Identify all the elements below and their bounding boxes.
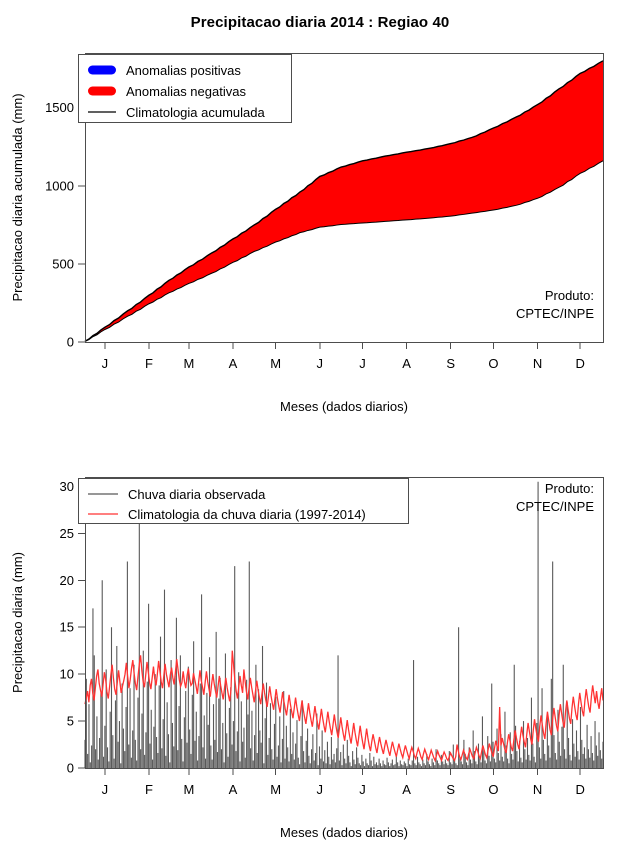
y-tick-label: 1000 (45, 178, 74, 193)
x-tick-label: A (402, 356, 411, 371)
x-tick-label: D (576, 356, 585, 371)
y-tick-label: 500 (52, 256, 74, 271)
y-tick-label: 0 (67, 335, 74, 350)
legend-swatch-1 (88, 87, 116, 96)
y-tick-label: 5 (67, 714, 74, 729)
legend-label-1: Anomalias negativas (126, 84, 246, 99)
daily-precipitation-panel: 051015202530JFMAMJJASONDMeses (dados dia… (0, 430, 640, 850)
y-tick-label: 25 (60, 526, 74, 541)
y-tick-label: 0 (67, 761, 74, 776)
y-tick-label: 15 (60, 620, 74, 635)
x-tick-label: M (183, 356, 194, 371)
page-title: Precipitacao diaria 2014 : Regiao 40 (0, 14, 640, 31)
legend-label-2: Climatologia acumulada (126, 105, 266, 120)
x-tick-label: A (229, 356, 238, 371)
x-tick-label: J (359, 782, 366, 797)
x-tick-label: J (102, 782, 109, 797)
accumulated-chart-svg: 050010001500JFMAMJJASONDMeses (dados dia… (0, 0, 640, 430)
x-axis-title: Meses (dados diarios) (280, 399, 408, 414)
x-tick-label: N (533, 356, 542, 371)
x-tick-label: D (576, 782, 585, 797)
screenshot-root: Precipitacao diaria 2014 : Regiao 40 050… (0, 0, 640, 850)
y-tick-label: 10 (60, 667, 74, 682)
x-tick-label: O (488, 356, 498, 371)
x-tick-label: A (229, 782, 238, 797)
x-tick-label: M (270, 782, 281, 797)
x-tick-label: N (533, 782, 542, 797)
x-tick-label: J (102, 356, 109, 371)
x-tick-label: J (317, 782, 324, 797)
produto-label-line2: CPTEC/INPE (516, 499, 594, 514)
x-tick-label: F (145, 782, 153, 797)
y-axis-title: Precipitacao diaria acumulada (mm) (10, 93, 25, 301)
x-axis-title: Meses (dados diarios) (280, 825, 408, 840)
y-axis-title: Precipitacao diaria (mm) (10, 552, 25, 693)
produto-label-line1: Produto: (545, 288, 594, 303)
x-tick-label: S (446, 356, 455, 371)
x-tick-label: A (402, 782, 411, 797)
x-tick-label: S (446, 782, 455, 797)
produto-label-line2: CPTEC/INPE (516, 306, 594, 321)
x-tick-label: O (488, 782, 498, 797)
legend-swatch-0 (88, 66, 116, 75)
y-tick-label: 30 (60, 479, 74, 494)
x-tick-label: M (183, 782, 194, 797)
y-tick-label: 1500 (45, 100, 74, 115)
produto-label-line1: Produto: (545, 481, 594, 496)
y-tick-label: 20 (60, 573, 74, 588)
legend-label-0: Anomalias positivas (126, 63, 241, 78)
x-tick-label: J (317, 356, 324, 371)
x-tick-label: M (270, 356, 281, 371)
x-tick-label: J (359, 356, 366, 371)
observed-daily-bars (85, 482, 603, 768)
legend-label-0: Chuva diaria observada (128, 487, 266, 502)
x-tick-label: F (145, 356, 153, 371)
daily-chart-svg: 051015202530JFMAMJJASONDMeses (dados dia… (0, 430, 640, 850)
accumulated-precipitation-panel: Precipitacao diaria 2014 : Regiao 40 050… (0, 0, 640, 430)
legend-label-1: Climatologia da chuva diaria (1997-2014) (128, 507, 366, 522)
